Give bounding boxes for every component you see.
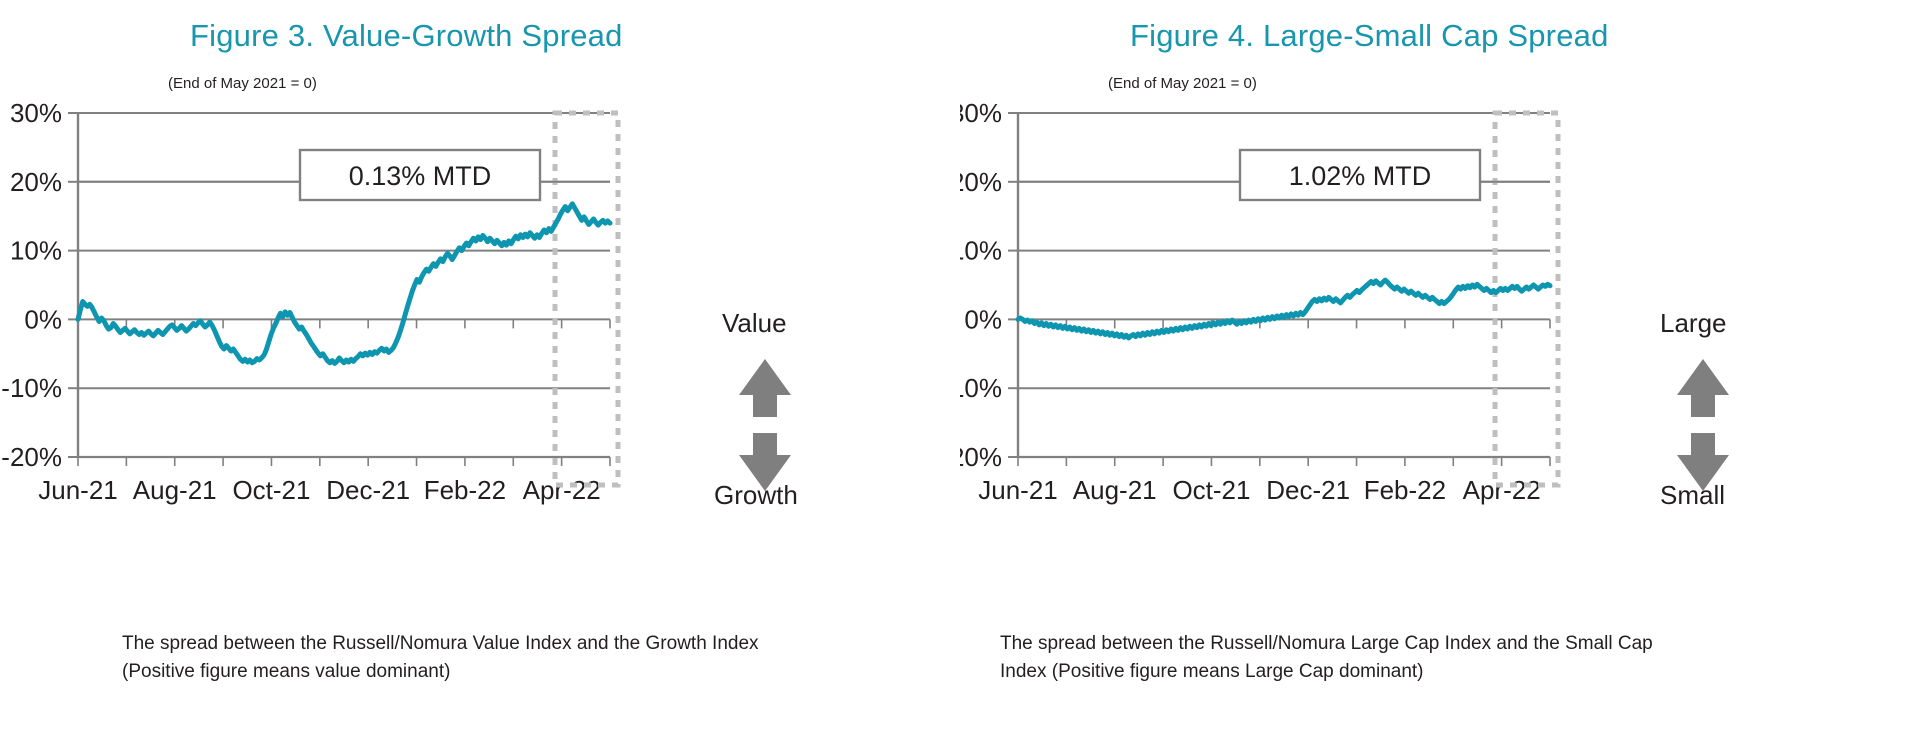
- figures-page: Figure 3. Value-Growth Spread (End of Ma…: [0, 0, 1920, 740]
- svg-text:Apr-22: Apr-22: [523, 475, 601, 505]
- figure-3-up-label: Value: [722, 308, 787, 339]
- svg-text:30%: 30%: [10, 98, 62, 128]
- figure-4-arrows: [1673, 355, 1733, 495]
- figure-3-highlight-box: [555, 113, 618, 485]
- figure-3-down-label: Growth: [714, 480, 798, 511]
- svg-text:Dec-21: Dec-21: [1266, 475, 1350, 505]
- svg-text:1.02% MTD: 1.02% MTD: [1289, 161, 1432, 191]
- figure-4-yaxis-labels: 30%20%10%0%-10%-20%: [960, 98, 1002, 472]
- figure-4-caption: The spread between the Russell/Nomura La…: [1000, 630, 1660, 685]
- svg-text:Aug-21: Aug-21: [133, 475, 217, 505]
- svg-text:Apr-22: Apr-22: [1463, 475, 1541, 505]
- figure-4-up-label: Large: [1660, 308, 1727, 339]
- svg-text:Jun-21: Jun-21: [978, 475, 1058, 505]
- figure-3-panel: Figure 3. Value-Growth Spread (End of Ma…: [0, 0, 960, 740]
- svg-text:0.13% MTD: 0.13% MTD: [349, 161, 492, 191]
- svg-text:20%: 20%: [960, 167, 1002, 197]
- figure-3-caption: The spread between the Russell/Nomura Va…: [122, 630, 802, 685]
- figure-4-callout[interactable]: 1.02% MTD: [1018, 150, 1550, 200]
- figure-3-title: Figure 3. Value-Growth Spread: [190, 18, 623, 54]
- svg-text:Feb-22: Feb-22: [424, 475, 506, 505]
- figure-4-title: Figure 4. Large-Small Cap Spread: [1130, 18, 1609, 54]
- svg-text:-10%: -10%: [960, 373, 1002, 403]
- figure-4-down-label: Small: [1660, 480, 1725, 511]
- figure-4-ticks: [1018, 319, 1550, 466]
- svg-text:Oct-21: Oct-21: [1172, 475, 1250, 505]
- figure-3-subnote: (End of May 2021 = 0): [168, 75, 317, 92]
- svg-text:Aug-21: Aug-21: [1073, 475, 1157, 505]
- figure-3-axis-lines: [68, 113, 78, 457]
- figure-3-yaxis-labels: 30%20%10%0%-10%-20%: [1, 98, 62, 472]
- svg-text:10%: 10%: [960, 236, 1002, 266]
- figure-4-subnote: (End of May 2021 = 0): [1108, 75, 1257, 92]
- svg-text:-10%: -10%: [1, 373, 62, 403]
- svg-text:Jun-21: Jun-21: [38, 475, 118, 505]
- figure-4-chart: 30%20%10%0%-10%-20% Jun-21Aug-21Oct-21De…: [960, 95, 1920, 515]
- svg-text:-20%: -20%: [960, 442, 1002, 472]
- figure-4-svg: 30%20%10%0%-10%-20% Jun-21Aug-21Oct-21De…: [960, 95, 1920, 515]
- figure-4-panel: Figure 4. Large-Small Cap Spread (End of…: [960, 0, 1920, 740]
- figure-4-data-line: [1018, 280, 1550, 338]
- svg-text:20%: 20%: [10, 167, 62, 197]
- figure-4-highlight-box: [1495, 113, 1558, 485]
- svg-text:0%: 0%: [24, 304, 62, 334]
- figure-4-axis-lines: [1008, 113, 1018, 457]
- svg-text:0%: 0%: [964, 304, 1002, 334]
- figure-3-data-line: [78, 204, 610, 364]
- figure-3-callout[interactable]: 0.13% MTD: [78, 150, 610, 200]
- figure-3-svg: 30%20%10%0%-10%-20% Jun-21Aug-21Oct-21De…: [0, 95, 960, 515]
- figure-3-chart: 30%20%10%0%-10%-20% Jun-21Aug-21Oct-21De…: [0, 95, 960, 515]
- figure-3-arrows: [735, 355, 795, 495]
- svg-text:10%: 10%: [10, 236, 62, 266]
- figure-3-xaxis-labels: Jun-21Aug-21Oct-21Dec-21Feb-22Apr-22: [38, 475, 600, 505]
- figure-4-xaxis-labels: Jun-21Aug-21Oct-21Dec-21Feb-22Apr-22: [978, 475, 1540, 505]
- svg-text:30%: 30%: [960, 98, 1002, 128]
- svg-text:Dec-21: Dec-21: [326, 475, 410, 505]
- svg-text:-20%: -20%: [1, 442, 62, 472]
- svg-text:Oct-21: Oct-21: [232, 475, 310, 505]
- figure-3-ticks: [78, 319, 610, 466]
- svg-text:Feb-22: Feb-22: [1364, 475, 1446, 505]
